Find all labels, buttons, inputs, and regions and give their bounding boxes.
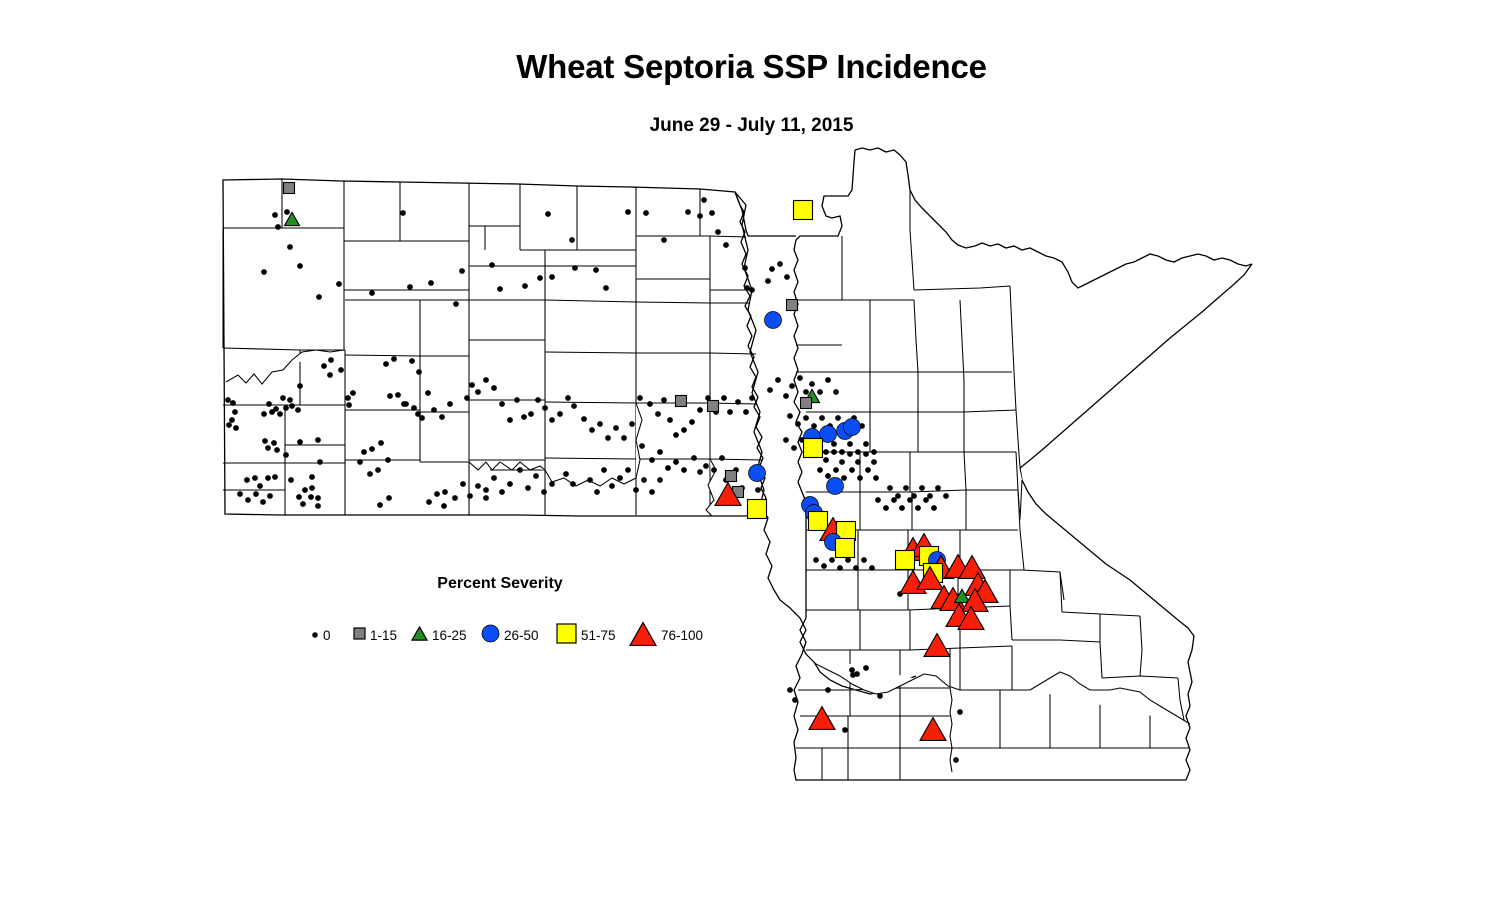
- green-triangle-icon: [410, 624, 429, 648]
- map-marker-0: [272, 441, 277, 446]
- map-marker-0: [854, 566, 859, 571]
- map-marker-0: [498, 287, 503, 292]
- map-marker-0: [634, 488, 639, 493]
- map-marker-0: [468, 494, 473, 499]
- map-marker-0: [566, 396, 571, 401]
- map-marker-0: [246, 498, 251, 503]
- map-marker-0: [888, 486, 893, 491]
- map-marker-0: [648, 402, 653, 407]
- map-marker-0: [606, 436, 611, 441]
- map-marker-0: [928, 494, 933, 499]
- map-marker-0: [245, 478, 250, 483]
- map-marker-0: [401, 211, 406, 216]
- map-marker-0: [490, 263, 495, 268]
- map-marker-0: [384, 362, 389, 367]
- map-marker-0: [484, 378, 489, 383]
- map-marker-0: [288, 398, 293, 403]
- map-marker-0: [370, 291, 375, 296]
- map-marker-0: [638, 396, 643, 401]
- map-marker-0: [916, 506, 921, 511]
- map-marker-0: [518, 468, 523, 473]
- map-marker-0: [550, 275, 555, 280]
- map-marker-0: [571, 482, 576, 487]
- minnesota-outline: [735, 148, 1252, 780]
- map-marker-0: [346, 396, 351, 401]
- map-marker-0: [716, 230, 721, 235]
- map-marker-0: [508, 418, 513, 423]
- legend-label: 26-50: [504, 629, 539, 643]
- map-marker-0: [840, 450, 845, 455]
- map-marker-0: [822, 564, 827, 569]
- map-marker-0: [706, 396, 711, 401]
- map-marker-0: [309, 495, 314, 500]
- map-marker-0: [258, 484, 263, 489]
- legend-label: 16-25: [432, 629, 467, 643]
- legend-item-51-75[interactable]: 51-75: [555, 621, 616, 651]
- map-marker-0: [858, 476, 863, 481]
- map-marker-0: [820, 416, 825, 421]
- map-marker-0: [848, 442, 853, 447]
- legend-item-1-15[interactable]: 1-15: [352, 621, 397, 651]
- map-marker-51-75: [804, 439, 823, 458]
- map-marker-0: [622, 436, 627, 441]
- map-marker-0: [543, 406, 548, 411]
- map-marker-0: [864, 666, 869, 671]
- map-marker-0: [590, 428, 595, 433]
- map-marker-0: [834, 390, 839, 395]
- map-marker-51-75: [794, 201, 813, 220]
- map-marker-0: [900, 506, 905, 511]
- map-marker-0: [238, 492, 243, 497]
- map-marker-0: [396, 393, 401, 398]
- map-marker-0: [588, 478, 593, 483]
- map-marker-0: [572, 404, 577, 409]
- map-marker-0: [296, 408, 301, 413]
- map-marker-0: [896, 494, 901, 499]
- map-marker-0: [435, 492, 440, 497]
- map-marker-0: [830, 558, 835, 563]
- map-marker-0: [442, 504, 447, 509]
- map-marker-0: [266, 446, 271, 451]
- map-marker-0: [262, 270, 267, 275]
- map-marker-0: [289, 478, 294, 483]
- map-marker-0: [358, 460, 363, 465]
- map-marker-0: [644, 211, 649, 216]
- map-marker-26-50: [765, 312, 782, 329]
- map-marker-0: [427, 500, 432, 505]
- map-marker-0: [368, 472, 373, 477]
- map-marker-26-50: [827, 478, 844, 495]
- map-marker-0: [674, 460, 679, 465]
- map-marker-0: [788, 414, 793, 419]
- legend-item-26-50[interactable]: 26-50: [480, 621, 539, 651]
- map-marker-0: [850, 468, 855, 473]
- map-marker-0: [682, 428, 687, 433]
- map-marker-0: [262, 412, 267, 417]
- map-marker-0: [429, 281, 434, 286]
- map-marker-0: [846, 558, 851, 563]
- map-marker-0: [387, 496, 392, 501]
- map-marker-51-75: [748, 500, 767, 519]
- map-marker-0: [744, 410, 749, 415]
- map-marker-51-75: [896, 551, 915, 570]
- legend-label: 0: [323, 629, 331, 643]
- map-marker-76-100: [809, 707, 835, 730]
- map-marker-0: [288, 245, 293, 250]
- north-dakota-counties: [223, 179, 766, 516]
- map-marker-0: [856, 460, 861, 465]
- map-marker-0: [840, 460, 845, 465]
- map-marker-0: [273, 475, 278, 480]
- map-marker-0: [534, 474, 539, 479]
- map-marker-0: [476, 484, 481, 489]
- map-marker-0: [604, 286, 609, 291]
- legend-item-76-100[interactable]: 76-100: [628, 621, 703, 651]
- map-marker-0: [558, 412, 563, 417]
- map-marker-0: [268, 494, 273, 499]
- map-marker-1-15: [726, 471, 737, 482]
- map-marker-0: [698, 470, 703, 475]
- map-marker-1-15: [787, 300, 798, 311]
- map-marker-0: [804, 416, 809, 421]
- map-marker-0: [626, 210, 631, 215]
- map-marker-0: [832, 442, 837, 447]
- map-marker-0: [362, 450, 367, 455]
- map-marker-1-15: [284, 183, 295, 194]
- map-marker-0: [484, 496, 489, 501]
- map-marker-0: [465, 396, 470, 401]
- map-marker-0: [798, 376, 803, 381]
- map-marker-1-15: [801, 398, 812, 409]
- map-marker-0: [376, 468, 381, 473]
- map-marker-0: [662, 238, 667, 243]
- map-marker-0: [573, 266, 578, 271]
- map-marker-0: [500, 402, 505, 407]
- map-marker-0: [318, 460, 323, 465]
- map-marker-0: [712, 468, 717, 473]
- map-marker-0: [298, 440, 303, 445]
- map-marker-0: [674, 433, 679, 438]
- map-marker-0: [884, 506, 889, 511]
- map-marker-0: [932, 506, 937, 511]
- map-marker-0: [750, 288, 755, 293]
- map-marker-0: [263, 439, 268, 444]
- map-marker-0: [826, 474, 831, 479]
- map-marker-0: [515, 398, 520, 403]
- map-marker-0: [908, 498, 913, 503]
- map-marker-0: [722, 396, 727, 401]
- map-marker-0: [529, 412, 534, 417]
- map-marker-0: [824, 458, 829, 463]
- map-marker-0: [864, 442, 869, 447]
- map-marker-0: [818, 468, 823, 473]
- map-marker-0: [443, 490, 448, 495]
- map-marker-0: [872, 450, 877, 455]
- map-marker-0: [682, 468, 687, 473]
- map-marker-0: [227, 423, 232, 428]
- map-marker-0: [316, 438, 321, 443]
- map-marker-0: [303, 488, 308, 493]
- map-marker-0: [814, 558, 819, 563]
- map-marker-0: [850, 668, 855, 673]
- map-marker-0: [230, 418, 235, 423]
- map-marker-0: [317, 295, 322, 300]
- map-marker-0: [743, 266, 748, 271]
- map-marker-0: [550, 482, 555, 487]
- map-marker-0: [408, 285, 413, 290]
- map-marker-0: [776, 378, 781, 383]
- legend-title: Percent Severity: [300, 575, 700, 593]
- map-marker-0: [874, 476, 879, 481]
- map-marker-0: [298, 264, 303, 269]
- map-marker-0: [440, 415, 445, 420]
- map-marker-0: [824, 450, 829, 455]
- map-marker-0: [838, 566, 843, 571]
- map-marker-0: [785, 275, 790, 280]
- map-marker-0: [416, 412, 421, 417]
- map-marker-0: [523, 284, 528, 289]
- map-marker-0: [796, 422, 801, 427]
- map-marker-0: [614, 426, 619, 431]
- map-marker-0: [855, 672, 860, 677]
- map-marker-0: [702, 198, 707, 203]
- map-marker-0: [686, 210, 691, 215]
- map-marker-0: [316, 496, 321, 501]
- map-marker-0: [550, 418, 555, 423]
- map-marker-0: [461, 482, 466, 487]
- small-black-dot-icon: [310, 627, 320, 645]
- map-marker-0: [598, 422, 603, 427]
- map-marker-0: [266, 476, 271, 481]
- map-marker-0: [538, 276, 543, 281]
- map-marker-0: [546, 212, 551, 217]
- map-marker-0: [542, 490, 547, 495]
- map-marker-0: [804, 390, 809, 395]
- map-marker-0: [337, 282, 342, 287]
- map-marker-0: [818, 390, 823, 395]
- map-marker-0: [392, 357, 397, 362]
- map-marker-0: [618, 476, 623, 481]
- map-marker-0: [690, 420, 695, 425]
- map-marker-0: [492, 386, 497, 391]
- map-marker-1-15: [676, 396, 687, 407]
- map-marker-0: [310, 475, 315, 480]
- map-marker-0: [904, 486, 909, 491]
- map-marker-0: [310, 486, 315, 491]
- map-marker-51-75: [809, 512, 828, 531]
- map-marker-0: [297, 495, 302, 500]
- map-marker-0: [412, 406, 417, 411]
- gray-square-icon: [352, 626, 367, 646]
- map-marker-0: [826, 688, 831, 693]
- map-marker-0: [582, 417, 587, 422]
- map-marker-0: [322, 364, 327, 369]
- minnesota-counties: [796, 190, 1190, 780]
- map-marker-0: [278, 412, 283, 417]
- map-marker-0: [958, 710, 963, 715]
- map-marker-0: [766, 279, 771, 284]
- map-marker-0: [768, 388, 773, 393]
- map-marker-0: [790, 384, 795, 389]
- map-marker-1-15: [708, 401, 719, 412]
- map-figure: Wheat Septoria SSP Incidence June 29 - J…: [0, 0, 1503, 900]
- map-marker-0: [508, 482, 513, 487]
- map-marker-0: [298, 384, 303, 389]
- map-marker-0: [792, 446, 797, 451]
- map-legend: Percent Severity 01-1516-2526-5051-7576-…: [300, 575, 720, 655]
- map-marker-0: [870, 566, 875, 571]
- map-marker-0: [275, 448, 280, 453]
- map-marker-0: [626, 468, 631, 473]
- map-marker-0: [944, 494, 949, 499]
- map-marker-0: [862, 558, 867, 563]
- legend-item-0[interactable]: 0: [310, 621, 331, 651]
- map-marker-0: [924, 498, 929, 503]
- map-marker-0: [284, 453, 289, 458]
- map-marker-0: [778, 262, 783, 267]
- map-marker-0: [656, 412, 661, 417]
- map-marker-0: [267, 402, 272, 407]
- map-marker-0: [784, 394, 789, 399]
- map-marker-0: [662, 398, 667, 403]
- map-marker-0: [920, 486, 925, 491]
- map-marker-0: [454, 302, 459, 307]
- map-marker-0: [720, 456, 725, 461]
- map-marker-0: [843, 728, 848, 733]
- legend-item-16-25[interactable]: 16-25: [410, 621, 467, 651]
- map-marker-0: [420, 416, 425, 421]
- map-marker-0: [728, 410, 733, 415]
- map-marker-0: [432, 408, 437, 413]
- map-marker-0: [254, 492, 259, 497]
- map-marker-0: [379, 441, 384, 446]
- map-marker-51-75: [836, 539, 855, 558]
- legend-label: 51-75: [581, 629, 616, 643]
- map-marker-0: [328, 373, 333, 378]
- map-marker-0: [261, 500, 266, 505]
- map-marker-0: [856, 450, 861, 455]
- map-marker-0: [810, 382, 815, 387]
- map-marker-0: [500, 490, 505, 495]
- map-marker-0: [476, 390, 481, 395]
- map-marker-0: [650, 490, 655, 495]
- red-triangle-icon: [628, 619, 658, 654]
- map-marker-0: [848, 452, 853, 457]
- map-marker-0: [658, 478, 663, 483]
- map-svg: [0, 0, 1503, 900]
- map-marker-0: [594, 268, 599, 273]
- map-marker-0: [460, 269, 465, 274]
- map-marker-0: [570, 238, 575, 243]
- map-marker-0: [351, 391, 356, 396]
- map-marker-0: [404, 402, 409, 407]
- map-marker-0: [388, 394, 393, 399]
- map-marker-0: [864, 452, 869, 457]
- map-marker-0: [640, 444, 645, 449]
- map-marker-76-100: [924, 634, 950, 657]
- map-marker-0: [710, 211, 715, 216]
- map-marker-0: [426, 391, 431, 396]
- map-marker-0: [866, 468, 871, 473]
- map-marker-0: [826, 378, 831, 383]
- map-marker-0: [668, 418, 673, 423]
- map-marker-0: [642, 478, 647, 483]
- map-marker-0: [522, 415, 527, 420]
- map-marker-0: [750, 396, 755, 401]
- map-marker-0: [954, 758, 959, 763]
- map-canvas: [0, 0, 1503, 900]
- map-marker-0: [234, 426, 239, 431]
- map-marker-0: [453, 496, 458, 501]
- map-marker-0: [595, 490, 600, 495]
- map-marker-0: [233, 410, 238, 415]
- map-marker-0: [329, 358, 334, 363]
- map-marker-0: [526, 486, 531, 491]
- map-marker-0: [658, 450, 663, 455]
- legend-label: 1-15: [370, 629, 397, 643]
- map-marker-76-100: [920, 718, 946, 741]
- map-marker-0: [370, 447, 375, 452]
- map-marker-0: [630, 422, 635, 427]
- map-marker-0: [812, 424, 817, 429]
- map-marker-0: [832, 450, 837, 455]
- map-marker-0: [745, 286, 750, 291]
- map-marker-0: [872, 460, 877, 465]
- map-marker-0: [834, 468, 839, 473]
- map-marker-0: [226, 398, 231, 403]
- map-marker-0: [836, 416, 841, 421]
- map-marker-0: [448, 402, 453, 407]
- map-marker-0: [756, 488, 761, 493]
- yellow-square-icon: [555, 622, 578, 650]
- map-marker-0: [285, 210, 290, 215]
- map-marker-0: [281, 396, 286, 401]
- map-marker-0: [484, 488, 489, 493]
- map-marker-26-50: [749, 465, 766, 482]
- map-marker-0: [378, 503, 383, 508]
- map-marker-0: [610, 484, 615, 489]
- map-marker-0: [876, 498, 881, 503]
- map-marker-0: [650, 458, 655, 463]
- map-marker-0: [410, 359, 415, 364]
- map-marker-0: [936, 486, 941, 491]
- map-marker-0: [912, 494, 917, 499]
- map-marker-0: [231, 401, 236, 406]
- map-marker-0: [290, 404, 295, 409]
- map-marker-0: [692, 456, 697, 461]
- map-marker-0: [793, 698, 798, 703]
- map-marker-0: [386, 458, 391, 463]
- map-marker-0: [273, 213, 278, 218]
- map-marker-0: [892, 498, 897, 503]
- map-marker-0: [666, 466, 671, 471]
- map-marker-0: [284, 406, 289, 411]
- map-marker-0: [698, 408, 703, 413]
- map-marker-0: [784, 438, 789, 443]
- map-marker-0: [347, 403, 352, 408]
- map-marker-0: [602, 468, 607, 473]
- blue-circle-icon: [480, 623, 501, 649]
- map-marker-0: [536, 398, 541, 403]
- map-marker-0: [842, 476, 847, 481]
- map-marker-0: [301, 502, 306, 507]
- map-marker-0: [417, 370, 422, 375]
- map-marker-0: [770, 267, 775, 272]
- legend-items: 01-1516-2526-5051-7576-100: [300, 621, 720, 651]
- map-marker-0: [736, 400, 741, 405]
- map-marker-0: [316, 504, 321, 509]
- map-marker-0: [339, 368, 344, 373]
